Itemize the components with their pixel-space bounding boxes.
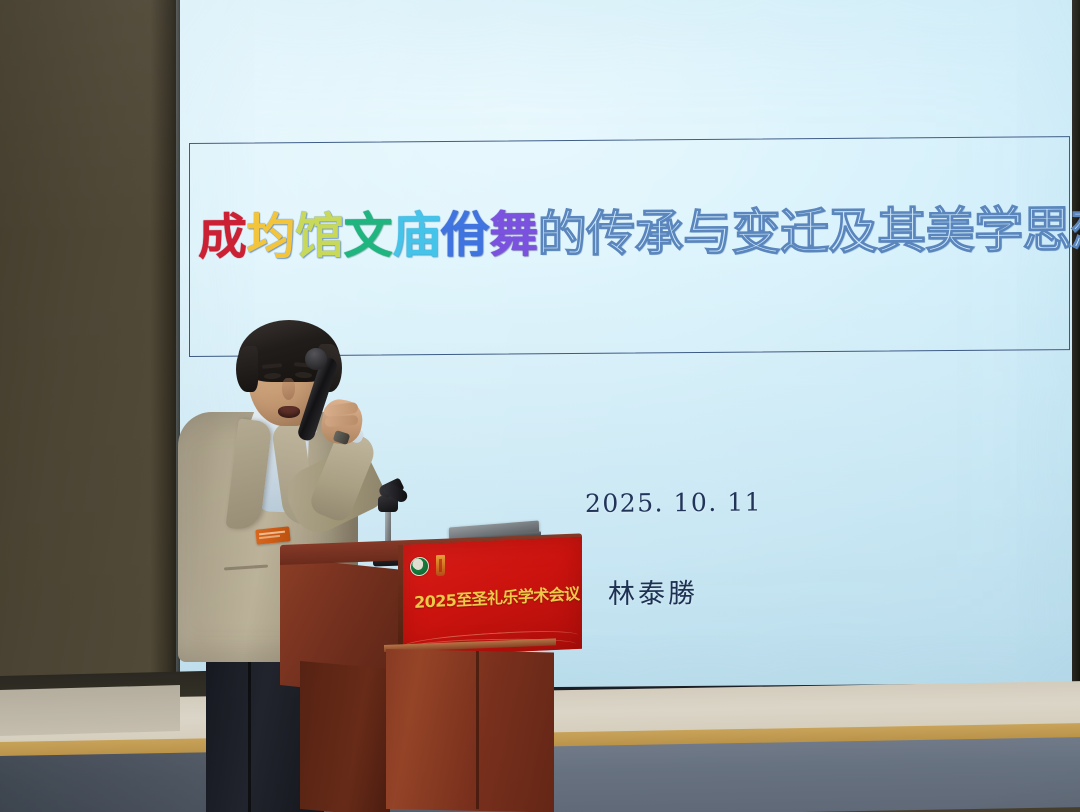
slide-title: 成均馆文庙佾舞的传承与变迁及其美学思想 bbox=[198, 205, 1078, 262]
conference-photo-scene: 成均馆文庙佾舞的传承与变迁及其美学思想 2025. 10. 11 林泰勝 bbox=[0, 0, 1080, 812]
hair-side-left bbox=[236, 346, 258, 392]
title-char-3: 馆 bbox=[295, 212, 344, 261]
podium-body-left bbox=[300, 661, 390, 812]
podium-body-front bbox=[386, 649, 554, 812]
lower-wall-left bbox=[0, 685, 180, 736]
podium-body-seam bbox=[476, 651, 479, 809]
title-char-6: 佾 bbox=[441, 210, 490, 259]
title-remainder: 的传承与变迁及其美学思想 bbox=[538, 205, 1080, 259]
title-char-5: 庙 bbox=[392, 211, 441, 260]
podium-front-edge bbox=[398, 545, 403, 657]
mouth bbox=[278, 406, 300, 418]
podium: 2025至圣礼乐学术会议 bbox=[280, 545, 582, 812]
slide-date: 2025. 10. 11 bbox=[585, 487, 762, 518]
title-char-4: 文 bbox=[344, 211, 393, 260]
nose bbox=[282, 378, 295, 400]
right-wall-edge bbox=[1072, 0, 1080, 705]
title-char-2: 均 bbox=[247, 212, 296, 261]
trouser-crease bbox=[248, 650, 251, 812]
slide-presenter-name: 林泰勝 bbox=[608, 571, 698, 611]
title-char-1: 成 bbox=[198, 213, 247, 262]
vertical-banner-detail bbox=[439, 559, 442, 572]
title-char-7: 舞 bbox=[489, 210, 538, 259]
